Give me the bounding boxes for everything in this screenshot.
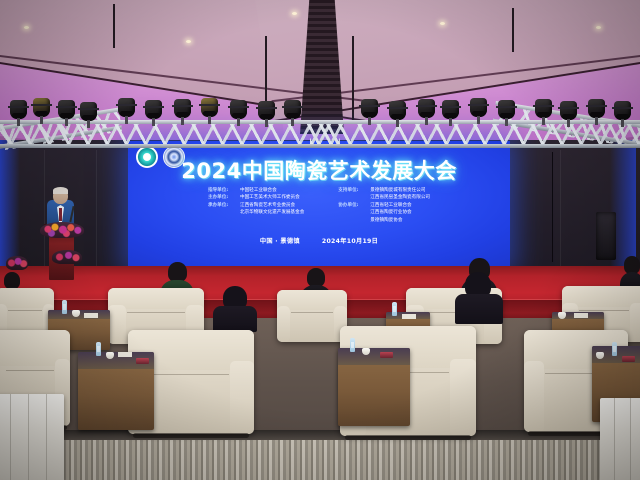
credit-row: 指导单位: 中国轻工业联合会 [208, 188, 304, 194]
ceiling-downlight [440, 22, 445, 25]
credit-row: 北京华物联文化遗产发展基金会 [208, 210, 304, 216]
wall-seam [44, 150, 45, 268]
draped-table [600, 398, 640, 480]
credit-key [208, 210, 236, 216]
stage-flower-arrangement [52, 250, 82, 264]
credit-row: 协办单位: 江西省轻工业联合会 [338, 203, 430, 209]
credit-key [338, 218, 366, 224]
par-can-light [201, 98, 218, 117]
credit-row: 江西省民窑圣金陶瓷有限公司 [338, 195, 430, 201]
event-location: 中国 · 景德镇 [260, 236, 300, 245]
striped-carpet [0, 440, 640, 480]
mobile-phone [622, 356, 635, 362]
par-can-light [174, 99, 191, 118]
screen-credits: 指导单位: 中国轻工业联合会 主办单位: 中国工艺美术大师工作委员会 承办单位:… [128, 188, 510, 224]
side-table [338, 348, 410, 426]
credit-key: 主办单位: [208, 195, 236, 201]
screen-footer: 中国 · 景德镇 2024年10月19日 [128, 236, 510, 245]
credit-row: 景德镇陶瓷协会 [338, 218, 430, 224]
credit-key: 承办单位: [208, 203, 236, 209]
ceiling-downlight [186, 40, 191, 43]
par-can-light [535, 99, 552, 118]
credit-key [338, 195, 366, 201]
par-can-light [361, 99, 378, 118]
par-can-light [614, 101, 631, 120]
ceiling-pole [512, 8, 514, 52]
hanging-cable [552, 152, 553, 262]
credit-key: 支持单位: [338, 188, 366, 194]
credits-column-left: 指导单位: 中国轻工业联合会 主办单位: 中国工艺美术大师工作委员会 承办单位:… [208, 188, 304, 224]
credit-value: 江西省陶瓷行业协会 [370, 210, 411, 216]
conference-hall-photo: 2024中国陶瓷艺术发展大会 指导单位: 中国轻工业联合会 主办单位: 中国工艺… [0, 0, 640, 480]
credit-key: 指导单位: [208, 188, 236, 194]
ceiling-downlight [292, 12, 297, 15]
credit-key [338, 210, 366, 216]
credit-key: 协办单位: [338, 203, 366, 209]
water-bottle [612, 342, 617, 356]
paper-note [402, 314, 416, 319]
credit-value: 中国工艺美术大师工作委员会 [240, 195, 300, 201]
ceiling-downlight [596, 26, 601, 29]
credit-row: 承办单位: 江西省陶瓷艺术专业委员会 [208, 203, 304, 209]
lighting-truss-left [0, 120, 340, 148]
par-can-light [80, 102, 97, 121]
paper-note [84, 313, 98, 318]
credit-value: 江西省陶瓷艺术专业委员会 [240, 203, 295, 209]
conference-title: 2024中国陶瓷艺术发展大会 [128, 155, 510, 185]
event-date: 2024年10月19日 [322, 236, 378, 245]
pa-speaker-box [596, 212, 616, 260]
par-can-light [118, 98, 135, 117]
armchair [277, 290, 347, 342]
par-can-light [284, 100, 301, 119]
par-can-light [258, 101, 275, 120]
credit-value: 北京华物联文化遗产发展基金会 [240, 210, 304, 216]
credits-column-right: 支持单位: 景德镇陶瓷城有限责任公司 江西省民窑圣金陶瓷有限公司 协办单位: 江… [338, 188, 430, 224]
credit-row: 支持单位: 景德镇陶瓷城有限责任公司 [338, 188, 430, 194]
paper-note [574, 313, 588, 318]
ceiling-pole [113, 4, 115, 48]
wall-blue-glow-left [0, 140, 20, 268]
lighting-truss-right [310, 120, 640, 148]
credit-value: 中国轻工业联合会 [240, 188, 277, 194]
podium-flowers [40, 222, 84, 238]
speaker-tie [59, 208, 62, 221]
ceiling-downlight [24, 26, 29, 29]
wall-seam [96, 150, 97, 268]
speaker-hair [53, 187, 68, 194]
mobile-phone [136, 358, 149, 364]
par-can-light [418, 99, 435, 118]
par-can-light [145, 100, 162, 119]
par-can-light [389, 101, 406, 120]
wall-seam [560, 150, 561, 268]
par-can-light [33, 98, 50, 117]
paper-note [118, 352, 132, 357]
par-can-light [588, 99, 605, 118]
seated-guest [455, 272, 503, 324]
credit-value: 江西省民窑圣金陶瓷有限公司 [370, 195, 430, 201]
par-can-light [58, 100, 75, 119]
water-bottle [350, 338, 355, 352]
credit-value: 景德镇陶瓷协会 [370, 218, 402, 224]
mobile-phone [380, 352, 393, 358]
par-can-light [470, 98, 487, 117]
par-can-light [10, 100, 27, 119]
par-can-light [498, 100, 515, 119]
draped-table [0, 394, 64, 480]
credit-row: 江西省陶瓷行业协会 [338, 210, 430, 216]
credit-value: 景德镇陶瓷城有限责任公司 [370, 188, 425, 194]
water-bottle [392, 302, 397, 316]
par-can-light [442, 100, 459, 119]
water-bottle [96, 342, 101, 356]
water-bottle [62, 300, 67, 314]
led-stage-screen: 2024中国陶瓷艺术发展大会 指导单位: 中国轻工业联合会 主办单位: 中国工艺… [128, 141, 510, 268]
seated-guest [213, 286, 257, 330]
credit-row: 主办单位: 中国工艺美术大师工作委员会 [208, 195, 304, 201]
par-can-light [230, 100, 247, 119]
stage-flower-arrangement [6, 256, 28, 270]
par-can-light [560, 101, 577, 120]
credit-value: 江西省轻工业联合会 [370, 203, 411, 209]
ceiling-pole [352, 36, 354, 120]
